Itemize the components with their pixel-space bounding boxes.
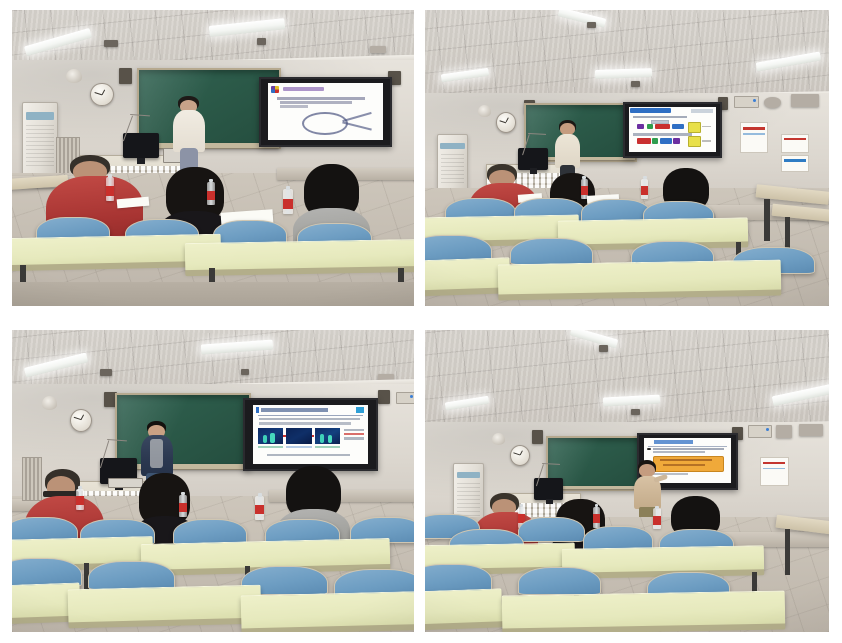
- wall-notice: [760, 457, 788, 486]
- desk: [68, 584, 262, 623]
- projector: [396, 392, 414, 404]
- slide-screen: [268, 83, 384, 140]
- wall-notice: [740, 122, 768, 152]
- water-bottle: [106, 177, 114, 201]
- slide-logo-icon: [271, 86, 279, 93]
- desk: [497, 259, 780, 295]
- water-bottle: [76, 489, 84, 510]
- wall-clock-icon: [496, 112, 517, 133]
- photo-bottom-right: [425, 330, 829, 632]
- water-bottle: [283, 189, 292, 214]
- desk: [241, 590, 414, 629]
- desk: [425, 588, 502, 626]
- photo-grid: [0, 0, 842, 643]
- wall-clock-icon: [70, 409, 92, 432]
- photo-top-right: [425, 10, 829, 306]
- dome-camera-icon: [66, 69, 82, 83]
- presenter: [169, 96, 209, 173]
- projection-panel: [623, 102, 722, 158]
- water-bottle: [207, 182, 215, 206]
- dome-camera-icon: [42, 396, 57, 409]
- projector: [748, 425, 772, 438]
- wall-notice: [781, 134, 809, 152]
- ceiling-speaker-icon: [119, 68, 133, 84]
- water-bottle: [641, 179, 648, 200]
- projection-panel: [243, 398, 378, 471]
- slide-header: [630, 108, 670, 113]
- slide-screen: [253, 405, 368, 464]
- water-bottle: [179, 495, 187, 518]
- desk: [562, 546, 764, 575]
- water-bottle: [653, 508, 660, 529]
- dome-camera-icon: [492, 433, 506, 445]
- air-conditioner: [437, 134, 468, 192]
- ceiling-speaker-icon: [378, 390, 390, 404]
- photo-bottom-left: [12, 330, 414, 632]
- dome-camera-icon: [478, 105, 492, 117]
- desk: [501, 590, 784, 629]
- projector: [734, 96, 759, 109]
- projection-panel: [259, 77, 392, 148]
- photo-top-left: [12, 10, 414, 306]
- water-bottle: [255, 496, 264, 520]
- water-bottle: [593, 507, 600, 528]
- wall-notice: [781, 155, 809, 172]
- slide-screen: [629, 107, 716, 153]
- desk: [185, 239, 414, 271]
- ceiling-speaker-icon: [532, 430, 543, 444]
